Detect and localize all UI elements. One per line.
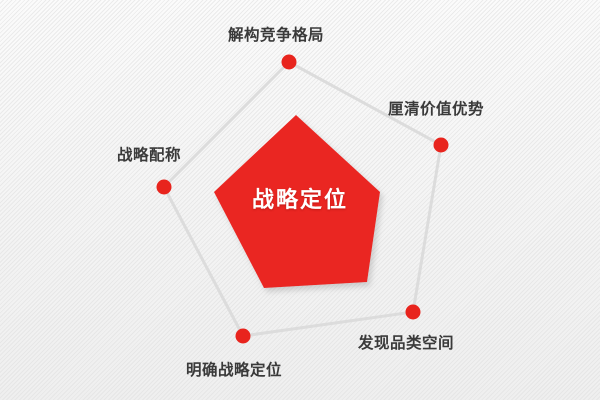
node-label-deconstruct-competition: 解构竞争格局 xyxy=(228,28,324,44)
node-dot-top[interactable] xyxy=(282,55,297,70)
node-dot-right[interactable] xyxy=(434,138,449,153)
diagram-canvas: 解构竞争格局 厘清价值优势 发现品类空间 明确战略定位 战略配称 战略定位 xyxy=(0,0,600,400)
node-dot-bottom-right[interactable] xyxy=(406,305,421,320)
node-label-strategic-alignment: 战略配称 xyxy=(117,148,181,164)
node-label-define-strategic-position: 明确战略定位 xyxy=(186,363,282,379)
node-label-discover-category-space: 发现品类空间 xyxy=(358,336,454,352)
node-dot-bottom-left[interactable] xyxy=(236,329,251,344)
node-label-clarify-value-advantage: 厘清价值优势 xyxy=(388,102,484,118)
node-dot-left[interactable] xyxy=(157,180,172,195)
center-title: 战略定位 xyxy=(238,190,362,212)
